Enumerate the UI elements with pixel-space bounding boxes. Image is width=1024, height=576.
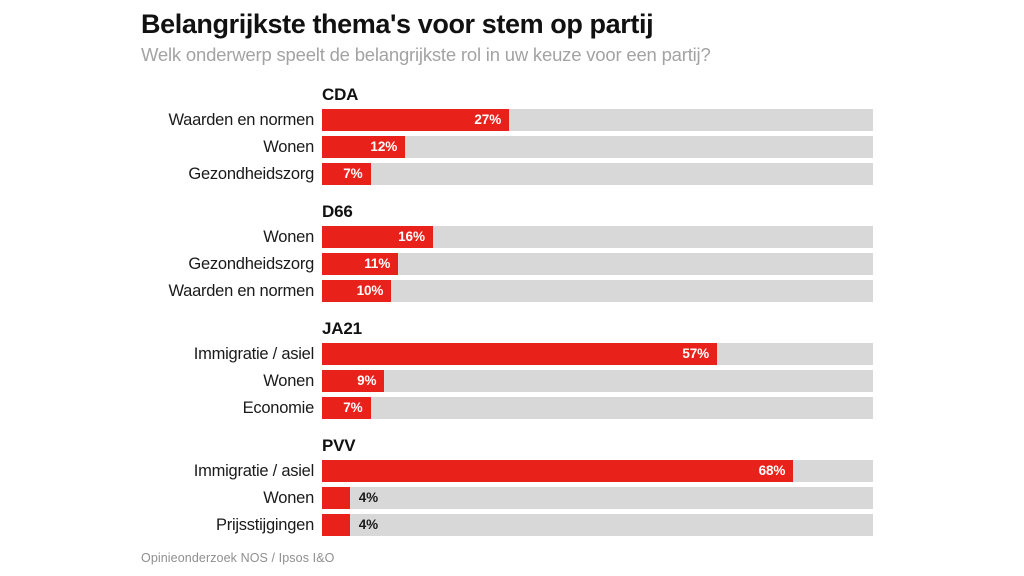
bar-track: 4% <box>322 514 873 536</box>
party-group-title: JA21 <box>322 318 1024 339</box>
row-category-label: Immigratie / asiel <box>0 343 314 365</box>
bar: 12% <box>322 136 405 158</box>
bar-track: 4% <box>322 487 873 509</box>
bar-value-label: 7% <box>343 397 362 419</box>
bar: 68% <box>322 460 793 482</box>
party-group: D66Wonen16%Gezondheidszorg11%Waarden en … <box>0 201 1024 302</box>
bar: 9% <box>322 370 384 392</box>
source-note: Opinieonderzoek NOS / Ipsos I&O <box>141 551 334 565</box>
row-category-label: Immigratie / asiel <box>0 460 314 482</box>
chart-row: Wonen12% <box>0 136 1024 158</box>
bar: 57% <box>322 343 717 365</box>
party-group-title: D66 <box>322 201 1024 222</box>
chart-row: Gezondheidszorg11% <box>0 253 1024 275</box>
page-title: Belangrijkste thema's voor stem op parti… <box>141 8 921 40</box>
bar-track: 57% <box>322 343 873 365</box>
party-group-title: CDA <box>322 84 1024 105</box>
party-group: PVVImmigratie / asiel68%Wonen4%Prijsstij… <box>0 435 1024 536</box>
bar-track: 9% <box>322 370 873 392</box>
bar: 16% <box>322 226 433 248</box>
bar-value-label: 11% <box>364 253 390 275</box>
party-group: JA21Immigratie / asiel57%Wonen9%Economie… <box>0 318 1024 419</box>
bar: 7% <box>322 163 371 185</box>
bar-track: 12% <box>322 136 873 158</box>
bar-track: 68% <box>322 460 873 482</box>
row-category-label: Gezondheidszorg <box>0 163 314 185</box>
bar-value-label: 68% <box>759 460 786 482</box>
bar-track: 16% <box>322 226 873 248</box>
bar-value-label: 4% <box>359 487 378 509</box>
row-category-label: Wonen <box>0 487 314 509</box>
bar: 11% <box>322 253 398 275</box>
bar: 4% <box>322 514 350 536</box>
chart-row: Immigratie / asiel68% <box>0 460 1024 482</box>
party-group-title: PVV <box>322 435 1024 456</box>
bar-value-label: 4% <box>359 514 378 536</box>
bar-value-label: 12% <box>370 136 397 158</box>
bar-value-label: 57% <box>682 343 709 365</box>
chart-row: Wonen4% <box>0 487 1024 509</box>
bar-value-label: 10% <box>357 280 384 302</box>
bar-value-label: 9% <box>357 370 376 392</box>
party-group: CDAWaarden en normen27%Wonen12%Gezondhei… <box>0 84 1024 185</box>
bar-track: 10% <box>322 280 873 302</box>
bar: 4% <box>322 487 350 509</box>
bar-value-label: 7% <box>343 163 362 185</box>
bar-value-label: 27% <box>474 109 501 131</box>
chart-plot-area: CDAWaarden en normen27%Wonen12%Gezondhei… <box>0 84 1024 536</box>
row-category-label: Waarden en normen <box>0 109 314 131</box>
chart-header: Belangrijkste thema's voor stem op parti… <box>141 8 921 67</box>
bar-track: 7% <box>322 397 873 419</box>
bar-track: 27% <box>322 109 873 131</box>
row-category-label: Wonen <box>0 226 314 248</box>
row-category-label: Waarden en normen <box>0 280 314 302</box>
bar: 7% <box>322 397 371 419</box>
chart-row: Wonen9% <box>0 370 1024 392</box>
chart-subtitle: Welk onderwerp speelt de belangrijkste r… <box>141 43 921 67</box>
chart-row: Waarden en normen27% <box>0 109 1024 131</box>
bar-track: 7% <box>322 163 873 185</box>
row-category-label: Wonen <box>0 370 314 392</box>
chart-row: Prijsstijgingen4% <box>0 514 1024 536</box>
chart-row: Waarden en normen10% <box>0 280 1024 302</box>
row-category-label: Economie <box>0 397 314 419</box>
row-category-label: Wonen <box>0 136 314 158</box>
bar: 10% <box>322 280 391 302</box>
bar-value-label: 16% <box>398 226 425 248</box>
chart-page: Belangrijkste thema's voor stem op parti… <box>0 0 1024 576</box>
row-category-label: Prijsstijgingen <box>0 514 314 536</box>
chart-row: Economie7% <box>0 397 1024 419</box>
chart-row: Wonen16% <box>0 226 1024 248</box>
row-category-label: Gezondheidszorg <box>0 253 314 275</box>
chart-row: Immigratie / asiel57% <box>0 343 1024 365</box>
bar-track: 11% <box>322 253 873 275</box>
chart-row: Gezondheidszorg7% <box>0 163 1024 185</box>
bar: 27% <box>322 109 509 131</box>
